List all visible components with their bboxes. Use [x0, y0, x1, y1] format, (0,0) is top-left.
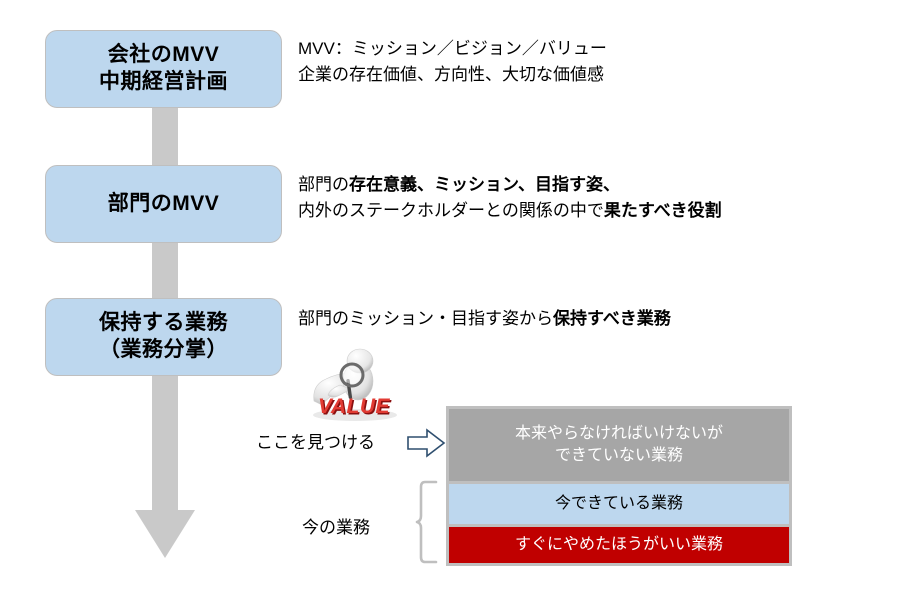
stage-box-line1: 会社のMVV	[99, 42, 228, 69]
description-plain: 内外のステークホルダーとの関係の中で	[298, 201, 604, 220]
stage-box-line1: 部門のMVV	[108, 191, 220, 218]
operations-bars-group: 本来やらなければいけないが できていない業務 今できている業務 すぐにやめたほう…	[446, 406, 792, 566]
stage-box-retained-operations[interactable]: 保持する業務 （業務分掌）	[45, 298, 282, 376]
value-word: VALUE	[318, 395, 391, 418]
description-department-mvv: 部門の存在意義、ミッション、目指す姿、 内外のステークホルダーとの関係の中で果た…	[298, 172, 722, 225]
stage-box-line2: （業務分掌）	[99, 337, 228, 364]
description-line: 部門のミッション・目指す姿から保持すべき業務	[298, 306, 671, 332]
description-line: MVV：ミッション／ビジョン／バリュー	[298, 36, 607, 62]
now-operations-label: 今の業務	[302, 513, 370, 538]
find-here-label: ここを見つける	[256, 428, 375, 453]
stage-box-department-mvv[interactable]: 部門のMVV	[45, 165, 282, 243]
bar-should-do-not-done[interactable]: 本来やらなければいけないが できていない業務	[449, 409, 789, 481]
stage-box-company-mvv[interactable]: 会社のMVV 中期経営計画	[45, 30, 282, 108]
outline-right-arrow-icon	[406, 427, 446, 459]
description-retained-operations: 部門のミッション・目指す姿から保持すべき業務	[298, 306, 671, 332]
description-line: 内外のステークホルダーとの関係の中で果たすべき役割	[298, 198, 722, 224]
diagram-canvas: 会社のMVV 中期経営計画 MVV：ミッション／ビジョン／バリュー 企業の存在価…	[0, 0, 920, 600]
description-bold: 果たすべき役割	[604, 201, 722, 220]
description-line: 部門の存在意義、ミッション、目指す姿、	[298, 172, 722, 198]
stage-box-line2: 中期経営計画	[99, 69, 228, 96]
now-operations-bracket	[412, 480, 438, 564]
value-magnifier-figure-icon: VALUE VALUE	[300, 345, 410, 423]
bar-label-line1: すぐにやめたほうがいい業務	[515, 534, 723, 556]
description-bold: 保持すべき業務	[553, 309, 671, 328]
description-plain: 部門のミッション・目指す姿から	[298, 309, 553, 328]
description-plain: 部門の	[298, 175, 349, 194]
bar-should-stop[interactable]: すぐにやめたほうがいい業務	[449, 527, 789, 563]
bar-label-line1: 今できている業務	[555, 493, 683, 515]
stage-box-line1: 保持する業務	[99, 310, 228, 337]
description-company-mvv: MVV：ミッション／ビジョン／バリュー 企業の存在価値、方向性、大切な価値感	[298, 36, 607, 89]
description-line: 企業の存在価値、方向性、大切な価値感	[298, 62, 607, 88]
description-bold: 存在意義、ミッション、目指す姿、	[349, 175, 620, 194]
bar-label-line1: 本来やらなければいけないが	[515, 423, 723, 445]
bar-label-line2: できていない業務	[515, 445, 723, 467]
bar-currently-done[interactable]: 今できている業務	[449, 484, 789, 524]
